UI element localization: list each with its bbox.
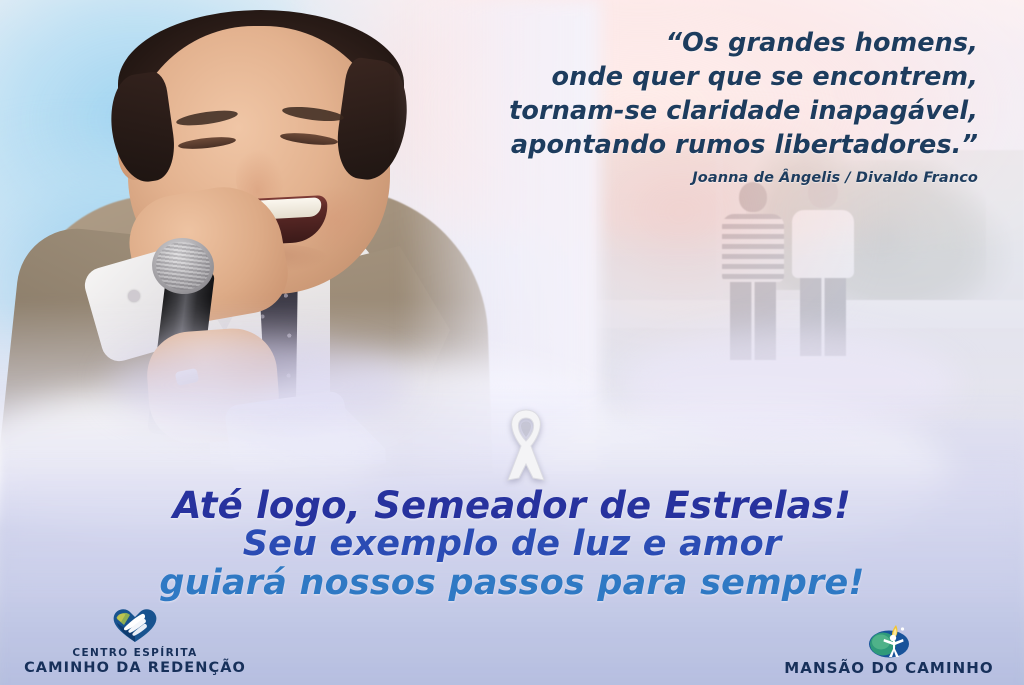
logo-centro-espirita: CENTRO ESPÍRITA CAMINHO DA REDENÇÃO [10, 605, 260, 677]
photo-man-torso [792, 210, 854, 278]
logo-right-line-2: MANSÃO DO CAMINHO [764, 660, 1014, 677]
headline-line-1: Até logo, Semeador de Estrelas! [0, 486, 1024, 525]
quote-attribution: Joanna de Ângelis / Divaldo Franco [418, 170, 978, 186]
logo-mansao-do-caminho: MANSÃO DO CAMINHO [764, 618, 1014, 677]
white-ribbon-icon [488, 406, 564, 484]
photo-man-head [739, 182, 767, 212]
background-photo-two-men-walking [596, 150, 1024, 420]
photo-man-legs [800, 278, 846, 356]
quote-text: “Os grandes homens, onde quer que se enc… [418, 26, 978, 162]
quote-line-3: tornam-se claridade inapagável, [418, 94, 978, 128]
headline-line-3: guiará nossos passos para sempre! [0, 564, 1024, 603]
photo-man-torso [722, 214, 784, 282]
logo-left-line-1: CENTRO ESPÍRITA [10, 647, 260, 660]
logo-left-line-2: CAMINHO DA REDENÇÃO [10, 660, 260, 677]
photo-man-legs [730, 282, 776, 360]
memorial-poster: “Os grandes homens, onde quer que se enc… [0, 0, 1024, 685]
photo-man-striped-shirt [722, 182, 784, 360]
quote-line-4: apontando rumos libertadores.” [418, 128, 978, 162]
globe-figure-flame-icon [764, 618, 1014, 658]
quote-line-1: “Os grandes homens, [418, 26, 978, 60]
headline: Até logo, Semeador de Estrelas! Seu exem… [0, 486, 1024, 603]
heart-hand-icon [10, 605, 260, 645]
photo-man-white-shirt [792, 176, 854, 356]
headline-line-2: Seu exemplo de luz e amor [0, 525, 1024, 564]
quote-line-2: onde quer que se encontrem, [418, 60, 978, 94]
